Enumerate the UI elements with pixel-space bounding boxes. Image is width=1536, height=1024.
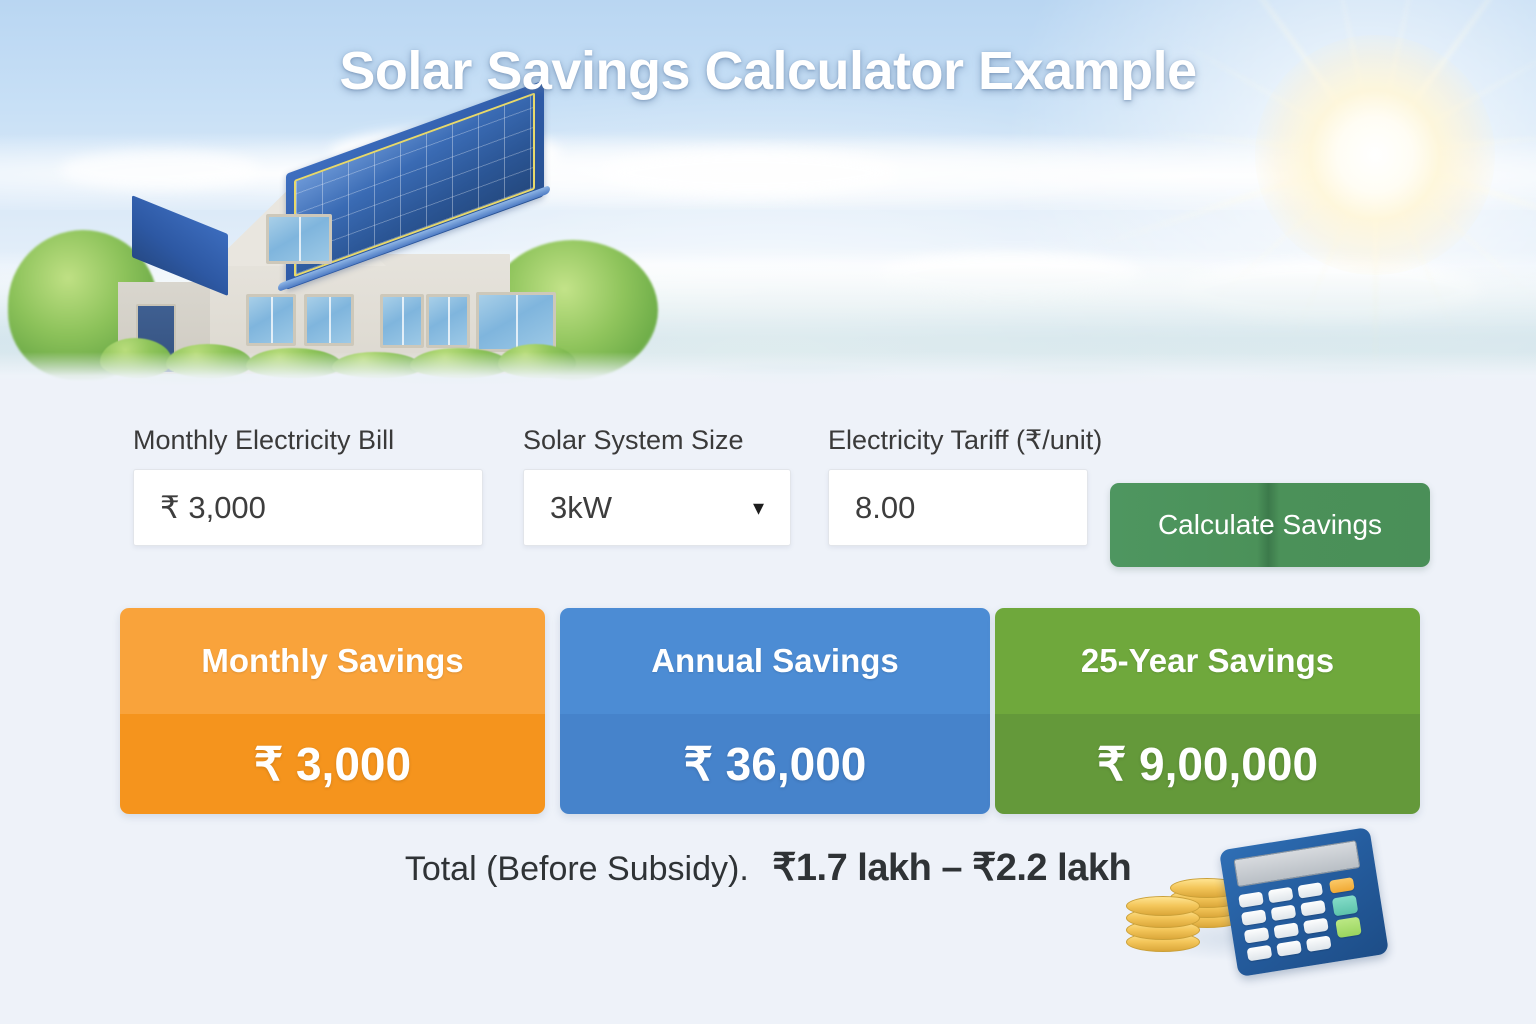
ground-haze (0, 352, 1536, 386)
window-icon (380, 294, 424, 348)
calculator-key (1303, 918, 1329, 935)
field-electricity-tariff: Electricity Tariff (₹/unit) 8.00 (828, 425, 1088, 546)
calculator-key-teal (1332, 895, 1359, 917)
card-annual-savings: Annual Savings ₹ 36,000 (560, 608, 990, 814)
window-icon (266, 214, 332, 264)
window-icon (426, 294, 470, 348)
card-title: Monthly Savings (120, 608, 545, 714)
chevron-down-icon[interactable]: ▾ (753, 497, 764, 519)
house-with-solar-panels-icon (118, 144, 538, 374)
monthly-bill-input[interactable]: ₹ 3,000 (133, 469, 483, 546)
calculator-key (1273, 922, 1299, 939)
calculator-key (1238, 891, 1264, 908)
window-icon (304, 294, 354, 346)
system-size-value: 3kW (550, 490, 753, 526)
card-25-year-savings: 25-Year Savings ₹ 9,00,000 (995, 608, 1420, 814)
calculator-key (1241, 909, 1267, 926)
calculator-key (1306, 935, 1332, 952)
total-before-subsidy: Total (Before Subsidy). ₹1.7 lakh – ₹2.2… (0, 845, 1536, 890)
total-label: Total (Before Subsidy). (405, 850, 749, 888)
calculator-key (1271, 905, 1297, 922)
calculator-key (1300, 900, 1326, 917)
calculate-savings-button[interactable]: Calculate Savings (1110, 483, 1430, 567)
electricity-tariff-input[interactable]: 8.00 (828, 469, 1088, 546)
electricity-tariff-value: 8.00 (855, 490, 915, 526)
calculator-key (1276, 940, 1302, 957)
monthly-bill-value: ₹ 3,000 (160, 490, 266, 526)
calculator-key (1247, 945, 1273, 962)
results-cards: Monthly Savings ₹ 3,000 Annual Savings ₹… (120, 608, 1420, 814)
card-title: Annual Savings (560, 608, 990, 714)
card-amount: ₹ 3,000 (120, 714, 545, 814)
label-electricity-tariff: Electricity Tariff (₹/unit) (828, 425, 1088, 456)
field-monthly-bill: Monthly Electricity Bill ₹ 3,000 (133, 425, 483, 546)
card-title: 25-Year Savings (995, 608, 1420, 714)
system-size-select[interactable]: 3kW ▾ (523, 469, 791, 546)
card-amount: ₹ 36,000 (560, 714, 990, 814)
window-icon (246, 294, 296, 346)
calculator-key-green (1335, 917, 1362, 939)
field-system-size: Solar System Size 3kW ▾ (523, 425, 791, 546)
page-title: Solar Savings Calculator Example (0, 40, 1536, 102)
card-amount: ₹ 9,00,000 (995, 714, 1420, 814)
label-monthly-bill: Monthly Electricity Bill (133, 425, 483, 456)
calculator-key (1244, 927, 1270, 944)
total-amount: ₹1.7 lakh – ₹2.2 lakh (772, 847, 1131, 889)
cloud-icon (600, 150, 900, 196)
label-system-size: Solar System Size (523, 425, 791, 456)
window-icon (476, 292, 556, 352)
calculator-form: Monthly Electricity Bill ₹ 3,000 Solar S… (133, 425, 1433, 575)
card-monthly-savings: Monthly Savings ₹ 3,000 (120, 608, 545, 814)
